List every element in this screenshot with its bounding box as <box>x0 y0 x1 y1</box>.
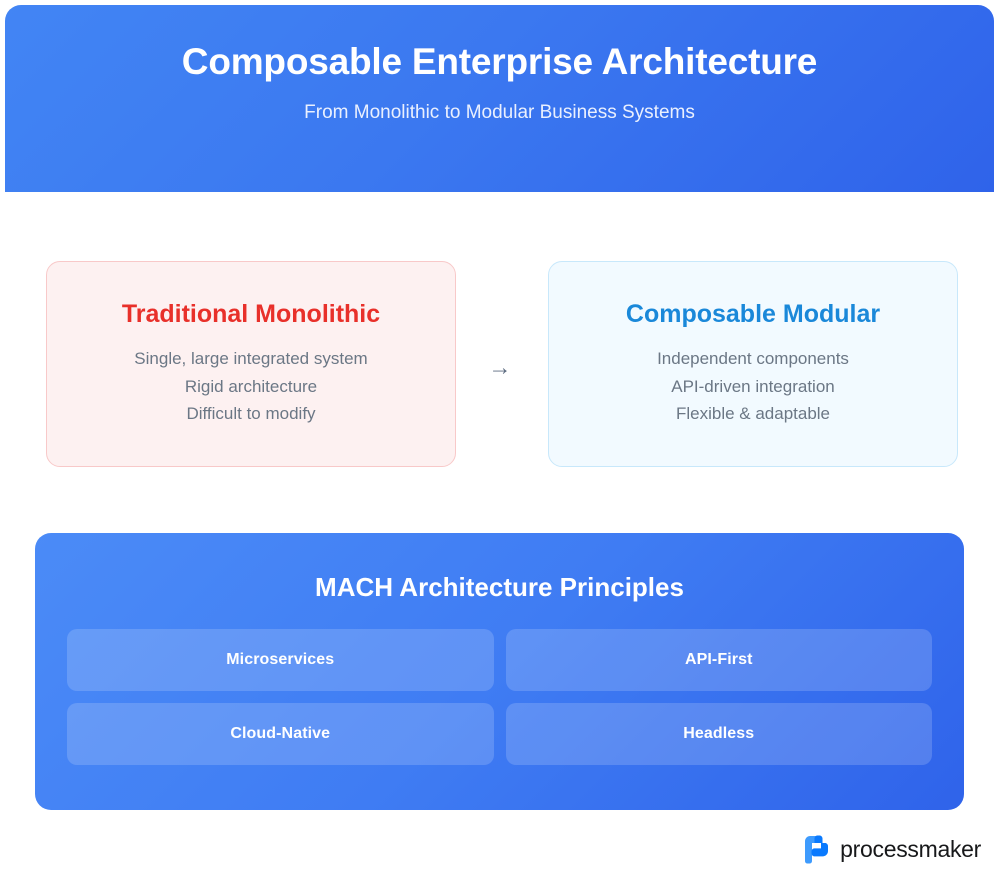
header-banner: Composable Enterprise Architecture From … <box>5 5 994 192</box>
infographic-canvas: Composable Enterprise Architecture From … <box>0 0 999 883</box>
list-item: Single, large integrated system <box>134 345 367 373</box>
list-item: Rigid architecture <box>134 373 367 401</box>
list-item: Independent components <box>657 345 849 373</box>
page-subtitle: From Monolithic to Modular Business Syst… <box>304 102 695 125</box>
card-traditional-monolithic: Traditional Monolithic Single, large int… <box>46 261 456 467</box>
mach-principles-panel: MACH Architecture Principles Microservic… <box>35 533 964 810</box>
principle-tile-headless: Headless <box>506 703 933 765</box>
list-item: Flexible & adaptable <box>657 400 849 428</box>
mach-principles-grid: Microservices API-First Cloud-Native Hea… <box>67 629 932 765</box>
card-feature-list-composable-modular: Independent components API-driven integr… <box>657 345 849 428</box>
brand-footer: processmaker <box>799 833 981 865</box>
card-heading-traditional-monolithic: Traditional Monolithic <box>122 300 380 329</box>
mach-panel-title: MACH Architecture Principles <box>67 573 932 603</box>
arrow-right-icon: → <box>476 354 524 380</box>
principle-tile-api-first: API-First <box>506 629 933 691</box>
card-feature-list-traditional-monolithic: Single, large integrated system Rigid ar… <box>134 345 367 428</box>
card-composable-modular: Composable Modular Independent component… <box>548 261 958 467</box>
page-title: Composable Enterprise Architecture <box>182 42 817 83</box>
principle-tile-cloud-native: Cloud-Native <box>67 703 494 765</box>
comparison-section: Traditional Monolithic Single, large int… <box>46 261 954 467</box>
list-item: API-driven integration <box>657 373 849 401</box>
list-item: Difficult to modify <box>134 400 367 428</box>
principle-tile-microservices: Microservices <box>67 629 494 691</box>
processmaker-logo-icon <box>799 833 831 865</box>
brand-wordmark: processmaker <box>840 838 981 861</box>
card-heading-composable-modular: Composable Modular <box>626 300 880 329</box>
